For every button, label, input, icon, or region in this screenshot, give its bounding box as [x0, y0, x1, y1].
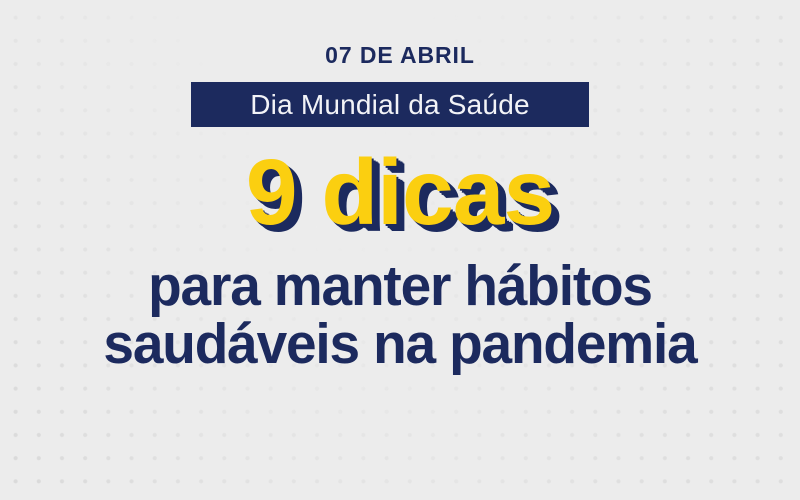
headline: 9 dicas: [0, 146, 800, 239]
headline-text: 9 dicas: [246, 146, 554, 239]
date-kicker: 07 DE ABRIL: [0, 44, 800, 67]
subheadline: para manter hábitos saudáveis na pandemi…: [0, 258, 800, 373]
subheadline-line-1: para manter hábitos: [14, 258, 786, 316]
poster-content: 07 DE ABRIL Dia Mundial da Saúde 9 dicas…: [0, 0, 800, 500]
occasion-ribbon: Dia Mundial da Saúde: [191, 82, 589, 127]
occasion-ribbon-label: Dia Mundial da Saúde: [250, 91, 530, 119]
poster-canvas: 07 DE ABRIL Dia Mundial da Saúde 9 dicas…: [0, 0, 800, 500]
subheadline-line-2: saudáveis na pandemia: [14, 316, 786, 374]
